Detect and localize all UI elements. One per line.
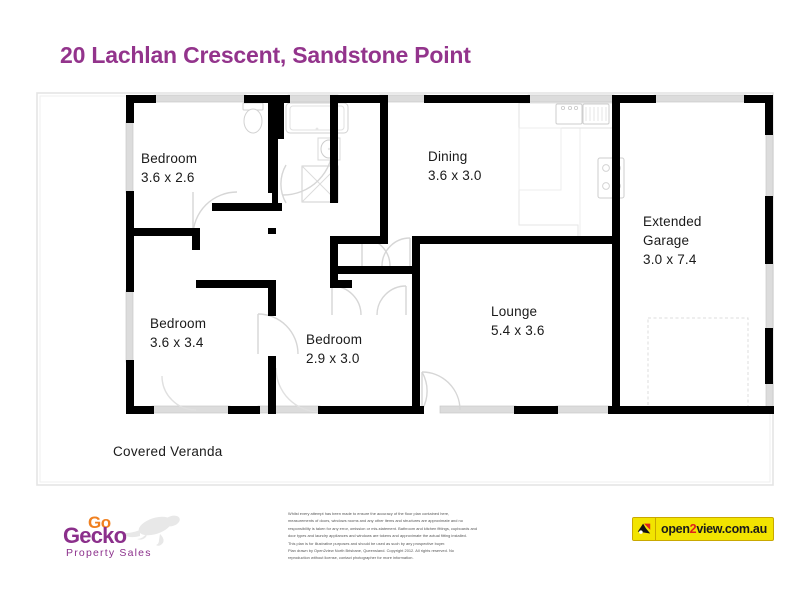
- room-label-bedroom-3: Bedroom: [306, 332, 362, 347]
- pantry-outline: [519, 128, 561, 190]
- window-bottom-2: [258, 406, 320, 413]
- drainer-icon: [583, 104, 609, 124]
- open2view-text-before: open: [661, 522, 690, 536]
- kitchen-fixtures: [519, 103, 624, 242]
- room-label-garage-line1: Extended: [643, 214, 702, 229]
- wall-bath-bottom: [212, 203, 282, 211]
- bathtub-drain: [316, 128, 319, 131]
- disclaimer-line: reproduction without license, contact ph…: [288, 555, 536, 560]
- disclaimer-line: Whilst every attempt has been made to en…: [288, 511, 536, 516]
- window-lounge-bottom-2: [556, 406, 610, 413]
- wall-bath-divider: [272, 103, 278, 203]
- open2view-logo[interactable]: open2view.com.au: [632, 517, 774, 541]
- wall-bottom-seg-a: [228, 406, 260, 414]
- wall-right-lower: [765, 328, 773, 384]
- door-arc-bed1-lower: [162, 376, 196, 410]
- gecko-icon: [118, 513, 181, 546]
- wall-dining-bottom-2: [412, 236, 520, 244]
- wall-bed1-right-lower: [268, 228, 276, 234]
- door-arc-french-bot-right: [377, 286, 406, 315]
- kitchen-bench-outline: [519, 128, 610, 242]
- toilet-bowl-icon: [244, 109, 262, 133]
- wall-left-lower: [126, 360, 134, 413]
- open2view-text-after: view.com.au: [696, 522, 767, 536]
- tap-icon-1: [561, 106, 564, 109]
- open2view-text: open2view.com.au: [656, 518, 773, 540]
- wall-kitchen-right: [612, 95, 620, 243]
- wall-dining-left-2: [380, 103, 388, 243]
- wall-bed3-left-stub: [330, 280, 352, 288]
- wall-left-upper: [126, 95, 134, 123]
- wall-center-vert: [412, 256, 420, 414]
- open2view-camera-icon: [633, 518, 656, 540]
- room-dim-garage: 3.0 x 7.4: [643, 252, 697, 267]
- wall-bed1-bottom-stub: [192, 228, 200, 250]
- wall-bottom-seg-b: [318, 406, 424, 414]
- wall-bed2-right-lower: [268, 356, 276, 414]
- window-kitchen-top: [528, 95, 614, 102]
- wall-right-upper: [765, 95, 773, 135]
- disclaimer-line: Plan drawn by Open2view North Brisbane, …: [288, 548, 536, 553]
- wall-bottom-left: [126, 406, 154, 414]
- wall-bed3-top: [330, 266, 420, 274]
- wall-right-mid: [765, 196, 773, 264]
- wall-hall-right: [330, 103, 338, 203]
- window-lounge-bottom: [440, 406, 516, 413]
- disclaimer-line: responsibility is taken for any error, o…: [288, 526, 536, 531]
- tap-icon-3: [574, 106, 577, 109]
- door-arc-french-bot-left: [332, 286, 361, 315]
- room-dim-bedroom-3: 2.9 x 3.0: [306, 351, 360, 366]
- room-dim-bedroom-1: 3.6 x 2.6: [141, 170, 195, 185]
- wall-bottom-seg-d: [608, 406, 774, 414]
- disclaimer-line: measurements of doors, windows rooms and…: [288, 518, 536, 523]
- disclaimer-text: Whilst every attempt has been made to en…: [288, 511, 536, 563]
- window-garage-right-2: [766, 262, 773, 330]
- room-dim-bedroom-2: 3.6 x 3.4: [150, 335, 204, 350]
- room-dim-dining: 3.6 x 3.0: [428, 168, 482, 183]
- window-garage-right-3: [766, 382, 773, 410]
- wall-garage-left: [612, 243, 620, 414]
- room-label-veranda: Covered Veranda: [113, 444, 223, 459]
- wall-bath-right: [330, 95, 338, 103]
- toilet-fixtures: [243, 103, 263, 133]
- bathroom-fixtures: [286, 103, 348, 202]
- footer: Go Gecko Property Sales Whilst every att…: [0, 495, 800, 575]
- floor-plan-page: 20 Lachlan Crescent, Sandstone Point: [0, 0, 800, 600]
- wall-bed1-bottom: [134, 228, 200, 236]
- door-arc-bath: [281, 165, 286, 203]
- window-garage-right-1: [766, 132, 773, 198]
- window-bed2-left: [126, 290, 133, 362]
- garage-slab: [648, 318, 748, 410]
- basin-drain: [328, 148, 330, 150]
- open2view-text-two: 2: [690, 522, 697, 536]
- room-dim-lounge: 5.4 x 3.6: [491, 323, 545, 338]
- wall-bed3-vert: [412, 244, 420, 256]
- room-label-bedroom-1: Bedroom: [141, 151, 197, 166]
- wall-bed2-top: [196, 280, 276, 288]
- wall-top-seg-b: [336, 95, 382, 103]
- window-bed1-left: [126, 121, 133, 193]
- wall-toilet-divider: [278, 95, 284, 139]
- room-label-lounge: Lounge: [491, 304, 537, 319]
- wall-bottom-seg-c: [514, 406, 558, 414]
- disclaimer-line: door types and laundry appliances and wi…: [288, 533, 536, 538]
- wall-left-mid: [126, 191, 134, 292]
- door-arc-lounge: [422, 372, 427, 410]
- go-gecko-logo: Go Gecko Property Sales: [60, 510, 210, 562]
- room-label-garage-line2: Garage: [643, 233, 689, 248]
- room-label-bedroom-2: Bedroom: [150, 316, 206, 331]
- wall-lounge-top: [512, 236, 616, 244]
- cooktop-icon: [598, 158, 624, 198]
- door-arc-bed2: [258, 314, 298, 354]
- window-garage-top: [654, 95, 746, 102]
- wall-top-seg-c: [424, 95, 530, 103]
- wall-dining-bottom: [330, 236, 388, 244]
- kitchen-bench-outline-2: [519, 128, 580, 240]
- window-bed1-top: [154, 95, 246, 102]
- door-arc-hall-bottom: [276, 368, 320, 412]
- logo-word-gecko: Gecko: [63, 523, 127, 548]
- tap-icon-2: [568, 106, 571, 109]
- logo-tagline: Property Sales: [66, 547, 152, 559]
- room-label-dining: Dining: [428, 149, 467, 164]
- disclaimer-line: This plan is for illustrative purposes a…: [288, 541, 536, 546]
